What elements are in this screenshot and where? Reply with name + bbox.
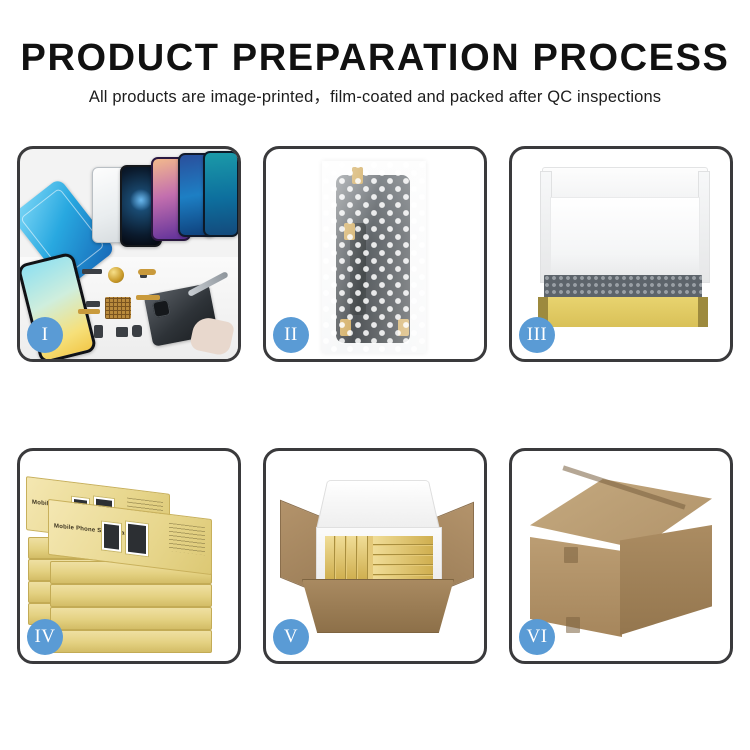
- carton-tab-upper: [564, 547, 578, 563]
- step-badge-5: V: [273, 619, 309, 655]
- foam-box-lid: [316, 480, 441, 531]
- foam-box-body: [316, 527, 442, 587]
- logic-board-chip: [105, 297, 131, 319]
- page-subtitle: All products are image-printed，film-coat…: [0, 87, 750, 107]
- component-small-4: [132, 325, 142, 337]
- retail-box-edge-4: [358, 536, 368, 580]
- plastic-sheen: [322, 161, 426, 353]
- step-badge-3: III: [519, 317, 555, 353]
- flex-cable-2: [136, 295, 160, 300]
- step-badge-2: II: [273, 317, 309, 353]
- packed-retail-boxes: [325, 536, 433, 580]
- retail-box-edge-3: [347, 536, 357, 580]
- box-window-front-1: [101, 520, 122, 553]
- page-title: PRODUCT PREPARATION PROCESS: [0, 36, 750, 80]
- stacked-box-layer-7: [50, 607, 212, 630]
- foam-liner: [550, 197, 700, 279]
- shipping-carton-open: [302, 579, 454, 633]
- step-badge-4: IV: [27, 619, 63, 655]
- carton-tab-lower: [566, 617, 580, 633]
- product-preparation-infographic: PRODUCT PREPARATION PROCESS All products…: [0, 0, 750, 750]
- step-panel-1: I: [17, 146, 241, 362]
- step-panel-3: III: [509, 146, 733, 362]
- component-small-2: [94, 325, 103, 338]
- flex-cable-1: [78, 309, 100, 314]
- carton-side-face: [620, 525, 712, 635]
- retail-box-edge-2: [336, 536, 346, 580]
- process-steps-grid: I II: [17, 146, 733, 680]
- retail-box-edge-1: [325, 536, 335, 580]
- header: PRODUCT PREPARATION PROCESS All products…: [0, 36, 750, 107]
- retail-box-flat-2: [373, 546, 433, 555]
- bubble-wrap-bag: [322, 161, 426, 353]
- step-badge-1: I: [27, 317, 63, 353]
- kraft-box-body: [538, 297, 708, 327]
- box-window-front-2: [125, 520, 149, 557]
- step-panel-2: II: [263, 146, 487, 362]
- bubble-wrap-filler: [544, 275, 702, 299]
- retail-box-flat-4: [373, 566, 433, 575]
- kraft-box-end-right: [698, 297, 708, 327]
- phone-teal-display: [203, 151, 239, 237]
- step-panel-6: VI: [509, 448, 733, 664]
- component-strip: [82, 269, 102, 274]
- retail-box-flat-3: [373, 556, 433, 565]
- component-small-5: [86, 301, 100, 307]
- stacked-box-layer-6: [50, 584, 212, 607]
- speaker-component: [108, 267, 124, 283]
- flex-cable-3: [138, 269, 156, 275]
- retail-box-flat-1: [373, 536, 433, 545]
- step-panel-4: Mobile Phone Spare Parts Mobile Phone Sp…: [17, 448, 241, 664]
- step-badge-6: VI: [519, 619, 555, 655]
- stacked-box-layer-8: [50, 630, 212, 653]
- component-small-3: [116, 327, 128, 337]
- step-panel-5: V: [263, 448, 487, 664]
- box-spec-lines-front: [169, 523, 205, 555]
